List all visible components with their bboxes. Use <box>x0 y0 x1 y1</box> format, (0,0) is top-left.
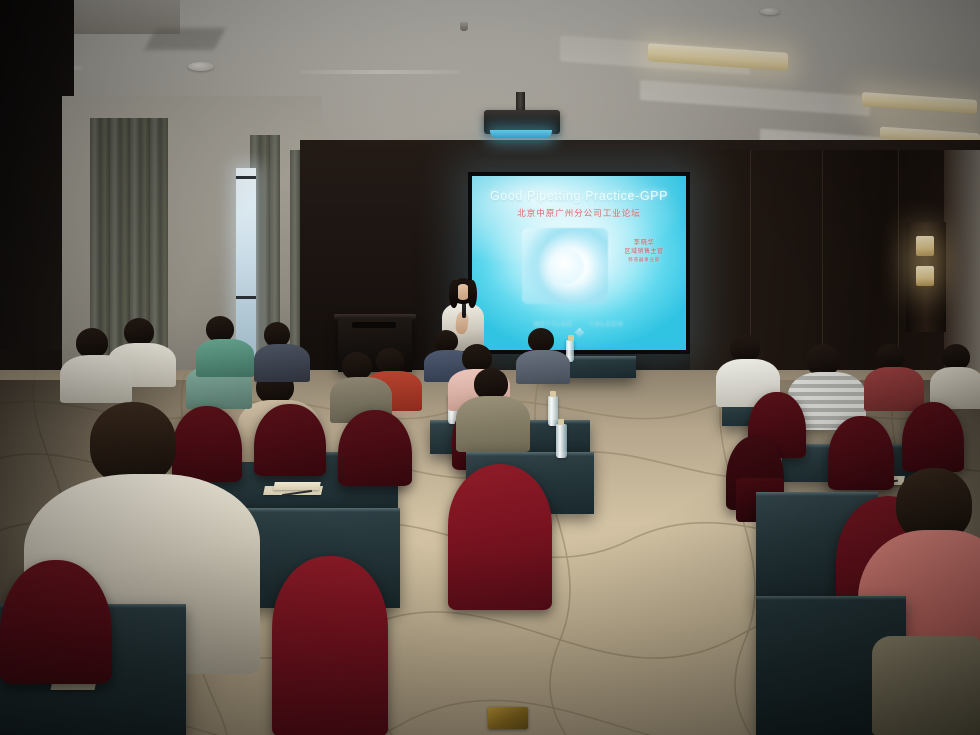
water-bottle <box>556 424 567 458</box>
chair <box>338 410 412 486</box>
head <box>124 318 154 346</box>
slide-presenter-org: 移液器事业部 <box>612 257 676 264</box>
wall-sconce-lower <box>916 266 934 286</box>
head <box>434 330 458 352</box>
slide-presenter-credit: 李晓华 区域销售主管 移液器事业部 <box>612 238 676 264</box>
ceiling-soffit <box>144 28 226 50</box>
notepad <box>273 482 321 490</box>
chair <box>254 404 326 476</box>
chair <box>828 416 894 490</box>
legs <box>872 636 980 735</box>
smoke-detector-3 <box>760 8 780 15</box>
projector-lens <box>490 130 552 138</box>
wall-sconce-upper <box>916 236 934 256</box>
chair <box>172 406 242 482</box>
slide-title: Good Pipetting Practice-GPP <box>472 189 686 203</box>
torso <box>456 396 530 452</box>
logo-word-right: TOLEDO <box>590 322 624 328</box>
projector-mount <box>516 92 525 112</box>
ceiling-light-panel-2 <box>862 92 977 114</box>
head <box>730 334 760 362</box>
ceiling-slot-diffuser-1 <box>300 70 460 74</box>
projection-screen: Good Pipetting Practice-GPP 北京中原广州分公司工业论… <box>468 172 690 354</box>
torso <box>60 355 132 403</box>
logo-diamond-icon <box>575 328 585 338</box>
smoke-detector-1 <box>188 62 214 71</box>
pipette-product-image <box>522 228 608 304</box>
sprinkler-head-4 <box>460 22 468 31</box>
projected-slide: Good Pipetting Practice-GPP 北京中原广州分公司工业论… <box>472 176 686 350</box>
window-daylight-gap <box>236 168 256 358</box>
head <box>76 328 108 358</box>
slide-presenter-name: 李晓华 <box>612 238 676 248</box>
chair <box>272 556 388 735</box>
window-mullion-bottom <box>236 296 256 299</box>
head <box>528 328 554 352</box>
torso <box>196 339 254 377</box>
torso <box>516 350 570 384</box>
torso <box>864 367 924 411</box>
slide-subtitle: 北京中原广州分公司工业论坛 <box>472 207 686 219</box>
chair <box>902 402 964 472</box>
presenter-hair-right <box>468 280 477 308</box>
microphone-icon <box>462 302 466 318</box>
av-speaker <box>352 322 396 328</box>
window-mullion-top <box>236 176 256 179</box>
head <box>342 352 372 380</box>
water-bottle <box>548 396 558 426</box>
chair <box>448 464 552 610</box>
floor-outlet-plate <box>488 707 528 729</box>
presenter-hair-left <box>449 280 458 308</box>
conference-room-photo: Good Pipetting Practice-GPP 北京中原广州分公司工业论… <box>0 0 980 735</box>
slide-presenter-role: 区域销售主管 <box>612 248 676 257</box>
torso <box>254 344 310 382</box>
ceiling-recess-2 <box>640 80 870 116</box>
head <box>90 402 176 484</box>
